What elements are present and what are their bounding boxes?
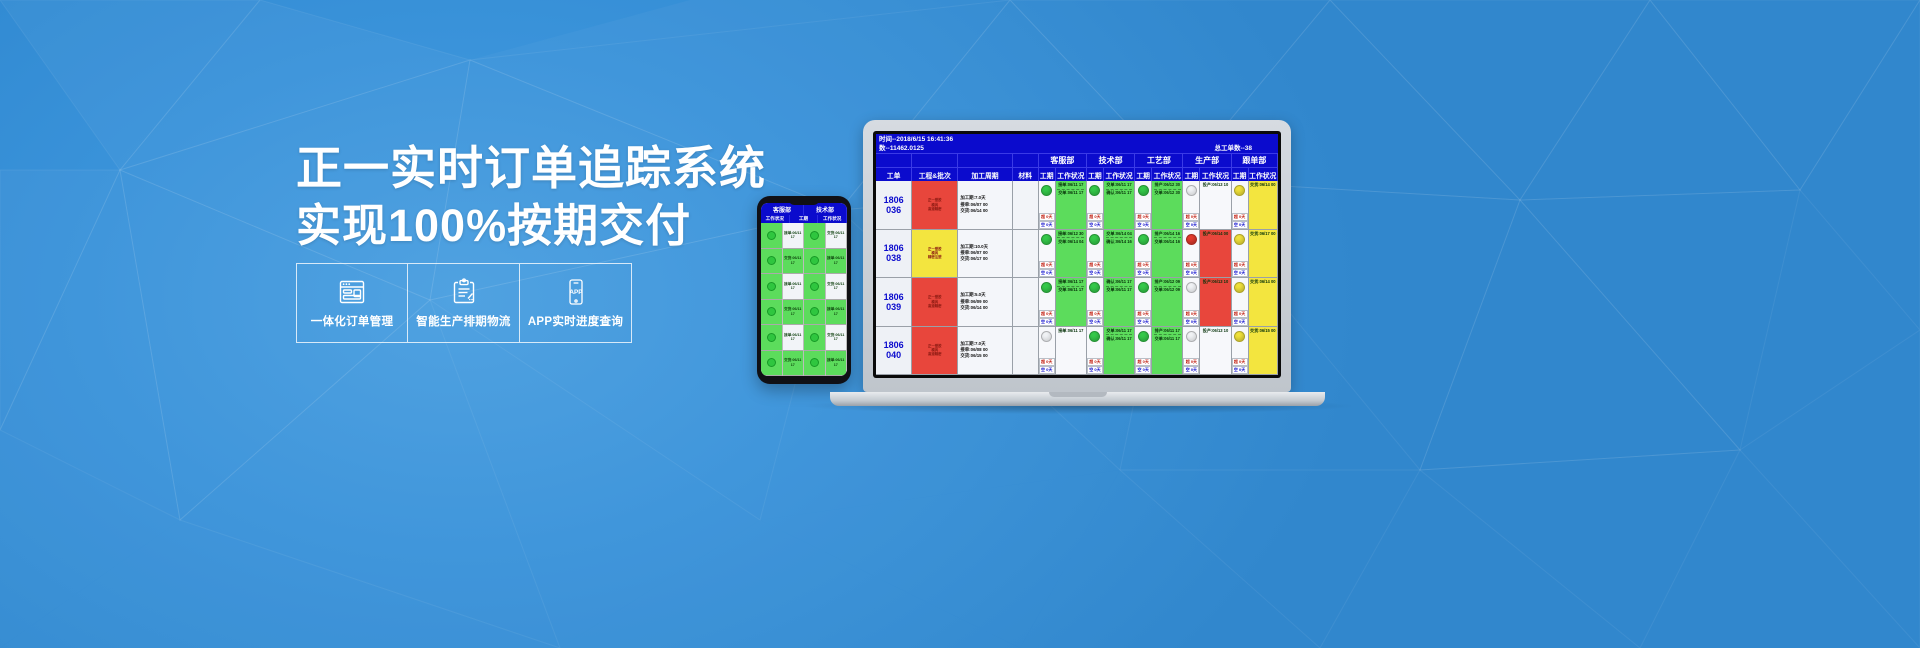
badge-over-days: 超 0天 — [1232, 261, 1248, 269]
table-row[interactable]: 1806038正一塑胶模具精密注塑加工期:10.0天接单:06/07 00交货:… — [876, 230, 1278, 279]
status-dot-green — [810, 231, 819, 240]
status-text-line: 交单:06/14 16 — [1155, 239, 1181, 245]
status-dot-white — [1186, 282, 1197, 293]
badge-empty-days: 空 0天 — [1087, 269, 1103, 277]
status-text-line: 投产:06/13 10 — [1203, 279, 1229, 285]
cell-duration-2[interactable]: 超 0天空 0天 — [1087, 230, 1104, 278]
dashboard-count-label: 数--11462.0125 — [879, 144, 924, 153]
badge-empty-days: 空 0天 — [1232, 269, 1248, 277]
phone-column-status-b — [804, 223, 826, 376]
badge-empty-days: 空 0天 — [1135, 366, 1151, 374]
status-dot-green — [810, 333, 819, 342]
status-dot-green — [1138, 282, 1149, 293]
status-dot-red — [1186, 234, 1197, 245]
status-text-line: 接单:06/11 17 — [1058, 328, 1083, 334]
status-dot-white — [1186, 185, 1197, 196]
status-dot-white — [1041, 331, 1052, 342]
badge-over-days: 超 0天 — [1039, 261, 1055, 269]
status-dot-green — [810, 256, 819, 265]
phone-text-cell[interactable]: 交货:06/11 17 — [783, 249, 804, 275]
headline-line-1: 正一实时订单追踪系统 — [296, 140, 716, 197]
cell-work-order[interactable]: 1806038 — [876, 230, 912, 278]
phone-cell-text: 交货:06/11 17 — [783, 307, 804, 316]
badge-over-days: 超 0天 — [1232, 310, 1248, 318]
cell-duration-3[interactable]: 超 0天空 0天 — [1135, 327, 1152, 375]
status-text-line: 交货:06/17 00 — [1250, 231, 1276, 237]
phone-text-cell[interactable]: 接单:06/11 17 — [826, 249, 847, 275]
feature-label: APP实时进度查询 — [528, 313, 623, 329]
cell-work-status-3[interactable]: 排产:06/12 09交单:06/12 09 — [1152, 278, 1183, 326]
phone-status-cell[interactable] — [804, 300, 825, 326]
department-header-row: 客服部 技术部 工艺部 生产部 跟单部 — [876, 153, 1278, 167]
badge-empty-days: 空 0天 — [1039, 221, 1055, 229]
phone-mockup: 客服部 技术部 工作状况 工期 工作状况 接单:06/11 17 — [757, 196, 851, 384]
status-text-line: 排产:06/12 09 — [1155, 279, 1181, 285]
cell-work-status-4[interactable]: 投产:06/13 10 — [1200, 278, 1231, 326]
status-text-line: 交单:06/12 30 — [1155, 190, 1181, 196]
project-batch-text: 正一塑胶模具高速精密 — [928, 198, 942, 211]
dashboard-total-orders-label: 总工单数--38 — [1214, 144, 1278, 153]
badge-group: 超 0天空 0天 — [1135, 310, 1151, 326]
badge-empty-days: 空 0天 — [1135, 269, 1151, 277]
status-dot-green — [767, 282, 776, 291]
cycle-text-line: 交货:06/14 00 — [960, 208, 987, 214]
badge-empty-days: 空 0天 — [1232, 221, 1248, 229]
laptop-base — [830, 392, 1325, 406]
badge-group: 超 0天空 0天 — [1039, 261, 1055, 277]
badge-over-days: 超 0天 — [1183, 310, 1199, 318]
project-batch-text: 正一塑胶模具高速精密 — [928, 295, 942, 308]
badge-empty-days: 空 0天 — [1087, 221, 1103, 229]
cell-duration-4[interactable]: 超 0天空 0天 — [1183, 181, 1200, 229]
cell-duration-3[interactable]: 超 0天空 0天 — [1135, 181, 1152, 229]
cell-process-cycle[interactable]: 加工期:7.0天接单:06/07 00交货:06/14 00 — [958, 181, 1012, 229]
phone-text-cell[interactable]: 接单:06/11 17 — [826, 300, 847, 326]
phone-cell-text: 接单:06/11 17 — [783, 282, 804, 291]
phone-text-cell[interactable]: 交货:06/11 17 — [826, 223, 847, 249]
phone-status-cell[interactable] — [761, 325, 782, 351]
status-text-line: 交单:06/14 04 — [1106, 231, 1132, 237]
badge-group: 超 0天空 0天 — [1183, 310, 1199, 326]
badge-group: 超 0天空 0天 — [1183, 261, 1199, 277]
phone-cell-text: 接单:06/11 17 — [826, 358, 847, 367]
status-dot-green — [1041, 282, 1052, 293]
status-dot-green — [1089, 282, 1100, 293]
cell-work-status-4[interactable]: 投产:06/14 00 — [1200, 230, 1231, 278]
phone-text-cell[interactable]: 交货:06/11 17 — [783, 351, 804, 377]
badge-group: 超 0天空 0天 — [1232, 358, 1248, 374]
cell-process-cycle[interactable]: 加工期:7.0天接单:06/08 00交货:06/15 00 — [958, 327, 1012, 375]
status-dot-green — [810, 307, 819, 316]
phone-cell-text: 交货:06/11 17 — [783, 256, 804, 265]
status-text-line: 确认:06/11 17 — [1106, 190, 1131, 196]
col-header-status-kefubu: 工作状况 — [1056, 167, 1087, 181]
cell-duration-3[interactable]: 超 0天空 0天 — [1135, 230, 1152, 278]
cell-work-status-3[interactable]: 排产:06/11 17交单:06/11 17 — [1152, 327, 1183, 375]
promotional-banner: 正一实时订单追踪系统 实现100%按期交付 一体化订单管理 — [0, 0, 1920, 648]
dashboard-time-label: 时间--2018/6/15 16:41:36 — [879, 135, 953, 144]
cell-material[interactable] — [1013, 278, 1039, 326]
cell-work-status-2[interactable]: 交单:06/11 17确认:06/11 17 — [1104, 327, 1135, 375]
work-order-text: 1806 — [884, 195, 904, 205]
cell-work-status-5[interactable]: 交货:06/14 00 — [1249, 181, 1278, 229]
cell-work-status-3[interactable]: 排产:06/12 30交单:06/12 30 — [1152, 181, 1183, 229]
badge-over-days: 超 0天 — [1039, 358, 1055, 366]
dept-spacer — [1013, 153, 1039, 167]
cell-duration-5[interactable]: 超 0天空 0天 — [1232, 230, 1249, 278]
status-dot-green — [767, 307, 776, 316]
status-text-line: 确认:06/11 17 — [1106, 279, 1131, 285]
cell-process-cycle[interactable]: 加工期:5.0天接单:06/09 00交货:06/14 00 — [958, 278, 1012, 326]
cell-work-status-5[interactable]: 交货:06/15 00 — [1249, 327, 1278, 375]
phone-cell-text: 交货:06/11 17 — [826, 282, 847, 291]
phone-text-cell[interactable]: 接单:06/11 17 — [783, 223, 804, 249]
cell-duration-5[interactable]: 超 0天空 0天 — [1232, 327, 1249, 375]
cell-duration-1[interactable]: 超 0天空 0天 — [1039, 327, 1056, 375]
phone-cell-text: 接单:06/11 17 — [826, 307, 847, 316]
cell-material[interactable] — [1013, 230, 1039, 278]
work-order-text: 1806 — [884, 292, 904, 302]
dashboard-header-line-1: 时间--2018/6/15 16:41:36 — [876, 135, 1278, 144]
badge-empty-days: 空 0天 — [1135, 318, 1151, 326]
col-header-duration-gendanbu: 工期 — [1232, 167, 1249, 181]
badge-over-days: 超 0天 — [1087, 358, 1103, 366]
laptop-base-notch — [1049, 392, 1107, 397]
col-header-status-gongyibu: 工作状况 — [1152, 167, 1183, 181]
phone-cell-text: 交货:06/11 17 — [826, 231, 847, 240]
cell-process-cycle[interactable]: 加工期:10.0天接单:06/07 00交货:06/17 00 — [958, 230, 1012, 278]
cell-project-batch[interactable]: 正一塑胶模具高速精密 — [912, 278, 958, 326]
phone-status-cell[interactable] — [761, 223, 782, 249]
cell-duration-1[interactable]: 超 0天空 0天 — [1039, 278, 1056, 326]
cell-work-status-3[interactable]: 排产:06/14 16交单:06/14 16 — [1152, 230, 1183, 278]
phone-table-body: 接单:06/11 17 交货:06/11 17 接单:06/11 17 交货:0… — [761, 223, 847, 376]
badge-group: 超 0天空 0天 — [1232, 213, 1248, 229]
work-order-text: 036 — [886, 205, 901, 215]
badge-empty-days: 空 0天 — [1087, 366, 1103, 374]
phone-status-cell[interactable] — [804, 223, 825, 249]
phone-status-cell[interactable] — [804, 274, 825, 300]
dept-spacer — [912, 153, 958, 167]
badge-group: 超 0天空 0天 — [1135, 358, 1151, 374]
phone-screen: 客服部 技术部 工作状况 工期 工作状况 接单:06/11 17 — [761, 203, 847, 376]
phone-status-cell[interactable] — [761, 300, 782, 326]
status-dot-green — [1138, 331, 1149, 342]
status-text-line: 交单:06/12 09 — [1155, 287, 1181, 293]
cell-duration-5[interactable]: 超 0天空 0天 — [1232, 278, 1249, 326]
status-text-line: 交货:06/15 00 — [1250, 328, 1276, 334]
project-batch-text: 正一塑胶模具高速精密 — [928, 344, 942, 357]
feature-item-order-management[interactable]: 一体化订单管理 — [296, 263, 408, 343]
browser-window-icon — [337, 278, 367, 306]
badge-over-days: 超 0天 — [1232, 213, 1248, 221]
badge-over-days: 超 0天 — [1183, 261, 1199, 269]
badge-group: 超 0天空 0天 — [1232, 310, 1248, 326]
laptop-screen: 时间--2018/6/15 16:41:36 数--11462.0125 总工单… — [873, 131, 1281, 378]
col-header-duration-shengchanbu: 工期 — [1183, 167, 1200, 181]
work-order-text: 040 — [886, 350, 901, 360]
badge-group: 超 0天空 0天 — [1087, 213, 1103, 229]
dept-header-gendanbu: 跟单部 — [1232, 153, 1278, 167]
phone-text-cell[interactable]: 接单:06/11 17 — [783, 325, 804, 351]
col-header-duration-gongyibu: 工期 — [1135, 167, 1152, 181]
phone-subheader: 工作状况 工期 工作状况 — [761, 215, 847, 223]
status-dot-green — [1138, 234, 1149, 245]
status-text-line: 交单:06/11 17 — [1106, 328, 1131, 334]
cell-work-status-2[interactable]: 确认:06/11 17交单:06/11 17 — [1104, 278, 1135, 326]
cell-work-status-5[interactable]: 交货:06/17 00 — [1249, 230, 1278, 278]
status-dot-green — [1041, 234, 1052, 245]
phone-status-cell[interactable] — [761, 249, 782, 275]
dashboard-table-body: 1806036正一塑胶模具高速精密加工期:7.0天接单:06/07 00交货:0… — [876, 181, 1278, 375]
badge-group: 超 0天空 0天 — [1183, 358, 1199, 374]
cell-duration-4[interactable]: 超 0天空 0天 — [1183, 230, 1200, 278]
badge-group: 超 0天空 0天 — [1087, 310, 1103, 326]
status-text-line: 交单:06/14 04 — [1058, 239, 1084, 245]
svg-text:APP: APP — [569, 289, 583, 296]
cell-work-status-2[interactable]: 交单:06/14 04确认:06/14 16 — [1104, 230, 1135, 278]
phone-cell-text: 交货:06/11 17 — [783, 358, 804, 367]
feature-list: 一体化订单管理 智能生产排期物流 — [296, 263, 632, 343]
dashboard-header: 时间--2018/6/15 16:41:36 数--11462.0125 总工单… — [876, 134, 1278, 153]
phone-cell-text: 接单:06/11 17 — [783, 333, 804, 342]
cycle-text-line: 交货:06/15 00 — [960, 353, 987, 359]
col-header-status-gendanbu: 工作状况 — [1249, 167, 1278, 181]
badge-empty-days: 空 0天 — [1183, 366, 1199, 374]
phone-status-cell[interactable] — [804, 249, 825, 275]
badge-over-days: 超 0天 — [1232, 358, 1248, 366]
badge-group: 超 0天空 0天 — [1232, 261, 1248, 277]
laptop-lid: 时间--2018/6/15 16:41:36 数--11462.0125 总工单… — [863, 120, 1291, 392]
phone-status-cell[interactable] — [804, 325, 825, 351]
badge-over-days: 超 0天 — [1135, 261, 1151, 269]
work-order-text: 039 — [886, 302, 901, 312]
cell-work-status-4[interactable]: 投产:06/13 10 — [1200, 327, 1231, 375]
status-text-line: 投产:06/13 10 — [1203, 328, 1229, 334]
status-dot-yellow — [1234, 185, 1245, 196]
phone-column-status-a — [761, 223, 783, 376]
feature-label: 智能生产排期物流 — [416, 313, 510, 329]
status-dot-green — [1089, 185, 1100, 196]
phone-subheader-cell: 工作状况 — [818, 215, 847, 223]
badge-empty-days: 空 0天 — [1183, 269, 1199, 277]
status-text-line: 交单:06/11 17 — [1155, 336, 1180, 342]
phone-text-cell[interactable]: 接单:06/11 17 — [783, 274, 804, 300]
status-text-line: 接单:06/12 30 — [1058, 231, 1084, 237]
col-header-status-jishubu: 工作状况 — [1104, 167, 1135, 181]
badge-over-days: 超 0天 — [1039, 310, 1055, 318]
phone-status-cell[interactable] — [804, 351, 825, 377]
cycle-text-line: 交货:06/17 00 — [960, 256, 987, 262]
cell-work-status-1[interactable]: 接单:06/12 30交单:06/14 04 — [1056, 230, 1087, 278]
cell-work-status-2[interactable]: 交单:06/11 17确认:06/11 17 — [1104, 181, 1135, 229]
cell-duration-4[interactable]: 超 0天空 0天 — [1183, 278, 1200, 326]
badge-group: 超 0天空 0天 — [1039, 213, 1055, 229]
status-text-line: 确认:06/11 17 — [1106, 336, 1131, 342]
badge-over-days: 超 0天 — [1087, 310, 1103, 318]
status-dot-yellow — [1234, 234, 1245, 245]
feature-label: 一体化订单管理 — [311, 313, 394, 329]
cell-project-batch[interactable]: 正一塑胶模具高速精密 — [912, 181, 958, 229]
cell-work-order[interactable]: 1806036 — [876, 181, 912, 229]
status-text-line: 接单:06/11 17 — [1058, 279, 1083, 285]
badge-empty-days: 空 0天 — [1039, 269, 1055, 277]
status-text-line: 投产:06/13 10 — [1203, 182, 1229, 188]
dept-header-shengchanbu: 生产部 — [1183, 153, 1231, 167]
status-dot-green — [810, 282, 819, 291]
cell-duration-1[interactable]: 超 0天空 0天 — [1039, 181, 1056, 229]
feature-item-app-progress-query[interactable]: APP APP实时进度查询 — [520, 263, 632, 343]
dept-header-kefubu: 客服部 — [1039, 153, 1087, 167]
table-row[interactable]: 1806036正一塑胶模具高速精密加工期:7.0天接单:06/07 00交货:0… — [876, 181, 1278, 230]
project-batch-text: 正一塑胶模具精密注塑 — [928, 247, 942, 260]
cell-work-status-4[interactable]: 投产:06/13 10 — [1200, 181, 1231, 229]
status-dot-green — [1041, 185, 1052, 196]
badge-group: 超 0天空 0天 — [1183, 213, 1199, 229]
cell-work-order[interactable]: 1806040 — [876, 327, 912, 375]
dept-header-jishubu: 技术部 — [1087, 153, 1135, 167]
status-text-line: 接单:06/11 17 — [1058, 182, 1083, 188]
badge-group: 超 0天空 0天 — [1135, 261, 1151, 277]
badge-empty-days: 空 0天 — [1087, 318, 1103, 326]
cell-project-batch[interactable]: 正一塑胶模具精密注塑 — [912, 230, 958, 278]
cell-duration-3[interactable]: 超 0天空 0天 — [1135, 278, 1152, 326]
status-text-line: 排产:06/14 16 — [1155, 231, 1181, 237]
headline-line-2: 实现100%按期交付 — [296, 197, 716, 254]
cell-work-status-5[interactable]: 交货:06/14 00 — [1249, 278, 1278, 326]
status-text-line: 排产:06/11 17 — [1155, 328, 1180, 334]
work-order-text: 1806 — [884, 340, 904, 350]
badge-over-days: 超 0天 — [1135, 310, 1151, 318]
badge-over-days: 超 0天 — [1087, 261, 1103, 269]
phone-notch — [789, 200, 819, 205]
cell-work-order[interactable]: 1806039 — [876, 278, 912, 326]
cell-material[interactable] — [1013, 181, 1039, 229]
status-text-line: 投产:06/14 00 — [1203, 231, 1229, 237]
badge-empty-days: 空 0天 — [1232, 366, 1248, 374]
status-text-line: 交单:06/11 17 — [1058, 190, 1083, 196]
phone-subheader-cell: 工期 — [790, 215, 819, 223]
status-dot-green — [1089, 234, 1100, 245]
status-text-line: 交单:06/11 17 — [1106, 287, 1131, 293]
table-row[interactable]: 1806039正一塑胶模具高速精密加工期:5.0天接单:06/09 00交货:0… — [876, 278, 1278, 327]
badge-empty-days: 空 0天 — [1183, 318, 1199, 326]
status-dot-white — [1186, 331, 1197, 342]
badge-empty-days: 空 0天 — [1135, 221, 1151, 229]
clipboard-schedule-icon — [449, 278, 479, 306]
order-tracking-dashboard: 时间--2018/6/15 16:41:36 数--11462.0125 总工单… — [876, 134, 1278, 375]
status-text-line: 确认:06/14 16 — [1106, 239, 1132, 245]
cell-duration-5[interactable]: 超 0天空 0天 — [1232, 181, 1249, 229]
phone-text-cell[interactable]: 交货:06/11 17 — [826, 274, 847, 300]
phone-status-cell[interactable] — [761, 351, 782, 377]
status-dot-green — [1089, 331, 1100, 342]
work-order-text: 1806 — [884, 243, 904, 253]
badge-over-days: 超 0天 — [1087, 213, 1103, 221]
col-header-project-batch: 工程&批次 — [912, 167, 958, 181]
cell-work-status-1[interactable]: 接单:06/11 17交单:06/11 17 — [1056, 278, 1087, 326]
dept-spacer — [876, 153, 912, 167]
status-dot-green — [767, 333, 776, 342]
mobile-app-icon: APP — [561, 278, 591, 306]
status-dot-green — [767, 231, 776, 240]
col-header-material: 材料 — [1013, 167, 1039, 181]
cell-duration-1[interactable]: 超 0天空 0天 — [1039, 230, 1056, 278]
badge-empty-days: 空 0天 — [1232, 318, 1248, 326]
cell-project-batch[interactable]: 正一塑胶模具高速精密 — [912, 327, 958, 375]
col-header-duration-kefubu: 工期 — [1039, 167, 1056, 181]
badge-over-days: 超 0天 — [1183, 213, 1199, 221]
badge-group: 超 0天空 0天 — [1135, 213, 1151, 229]
status-text-line: 交货:06/14 00 — [1250, 182, 1276, 188]
col-header-work-order: 工单 — [876, 167, 912, 181]
badge-over-days: 超 0天 — [1183, 358, 1199, 366]
phone-subheader-cell: 工作状况 — [761, 215, 790, 223]
badge-group: 超 0天空 0天 — [1087, 261, 1103, 277]
phone-column-text-a: 接单:06/11 17 交货:06/11 17 接单:06/11 17 交货:0… — [783, 223, 805, 376]
badge-over-days: 超 0天 — [1135, 213, 1151, 221]
phone-text-cell[interactable]: 交货:06/11 17 — [826, 325, 847, 351]
badge-empty-days: 空 0天 — [1183, 221, 1199, 229]
table-row[interactable]: 1806040正一塑胶模具高速精密加工期:7.0天接单:06/08 00交货:0… — [876, 327, 1278, 376]
headline-block: 正一实时订单追踪系统 实现100%按期交付 — [296, 140, 716, 254]
badge-group: 超 0天空 0天 — [1087, 358, 1103, 374]
status-dot-yellow — [1234, 282, 1245, 293]
cell-material[interactable] — [1013, 327, 1039, 375]
dashboard-header-line-2: 数--11462.0125 总工单数--38 — [876, 144, 1278, 153]
cell-work-status-1[interactable]: 接单:06/11 17 — [1056, 327, 1087, 375]
feature-item-production-scheduling[interactable]: 智能生产排期物流 — [408, 263, 520, 343]
badge-over-days: 超 0天 — [1039, 213, 1055, 221]
status-dot-green — [767, 256, 776, 265]
phone-text-cell[interactable]: 交货:06/11 17 — [783, 300, 804, 326]
status-dot-yellow — [1234, 331, 1245, 342]
badge-empty-days: 空 0天 — [1039, 366, 1055, 374]
status-text-line: 排产:06/12 30 — [1155, 182, 1181, 188]
column-header-row: 工单 工程&批次 加工周期 材料 工期 工作状况 工期 工作状况 工期 工作状况… — [876, 167, 1278, 181]
cell-duration-2[interactable]: 超 0天空 0天 — [1087, 181, 1104, 229]
badge-over-days: 超 0天 — [1135, 358, 1151, 366]
badge-empty-days: 空 0天 — [1039, 318, 1055, 326]
dept-spacer — [958, 153, 1012, 167]
dept-header-gongyibu: 工艺部 — [1135, 153, 1183, 167]
work-order-text: 038 — [886, 253, 901, 263]
cell-duration-2[interactable]: 超 0天空 0天 — [1087, 327, 1104, 375]
badge-group: 超 0天空 0天 — [1039, 358, 1055, 374]
status-dot-green — [810, 358, 819, 367]
phone-cell-text: 交货:06/11 17 — [826, 333, 847, 342]
phone-text-cell[interactable]: 接单:06/11 17 — [826, 351, 847, 377]
status-text-line: 交单:06/11 17 — [1106, 182, 1131, 188]
phone-cell-text: 接单:06/11 17 — [826, 256, 847, 265]
phone-cell-text: 接单:06/11 17 — [783, 231, 804, 240]
cell-duration-4[interactable]: 超 0天空 0天 — [1183, 327, 1200, 375]
status-text-line: 交货:06/14 00 — [1250, 279, 1276, 285]
cycle-text-line: 交货:06/14 00 — [960, 305, 987, 311]
cell-duration-2[interactable]: 超 0天空 0天 — [1087, 278, 1104, 326]
col-header-status-shengchanbu: 工作状况 — [1200, 167, 1231, 181]
status-text-line: 交单:06/11 17 — [1058, 287, 1083, 293]
badge-group: 超 0天空 0天 — [1039, 310, 1055, 326]
phone-status-cell[interactable] — [761, 274, 782, 300]
phone-column-text-b: 交货:06/11 17 接单:06/11 17 交货:06/11 17 接单:0… — [826, 223, 848, 376]
status-dot-green — [1138, 185, 1149, 196]
col-header-duration-jishubu: 工期 — [1087, 167, 1104, 181]
status-dot-green — [767, 358, 776, 367]
cell-work-status-1[interactable]: 接单:06/11 17交单:06/11 17 — [1056, 181, 1087, 229]
col-header-process-cycle: 加工周期 — [958, 167, 1012, 181]
